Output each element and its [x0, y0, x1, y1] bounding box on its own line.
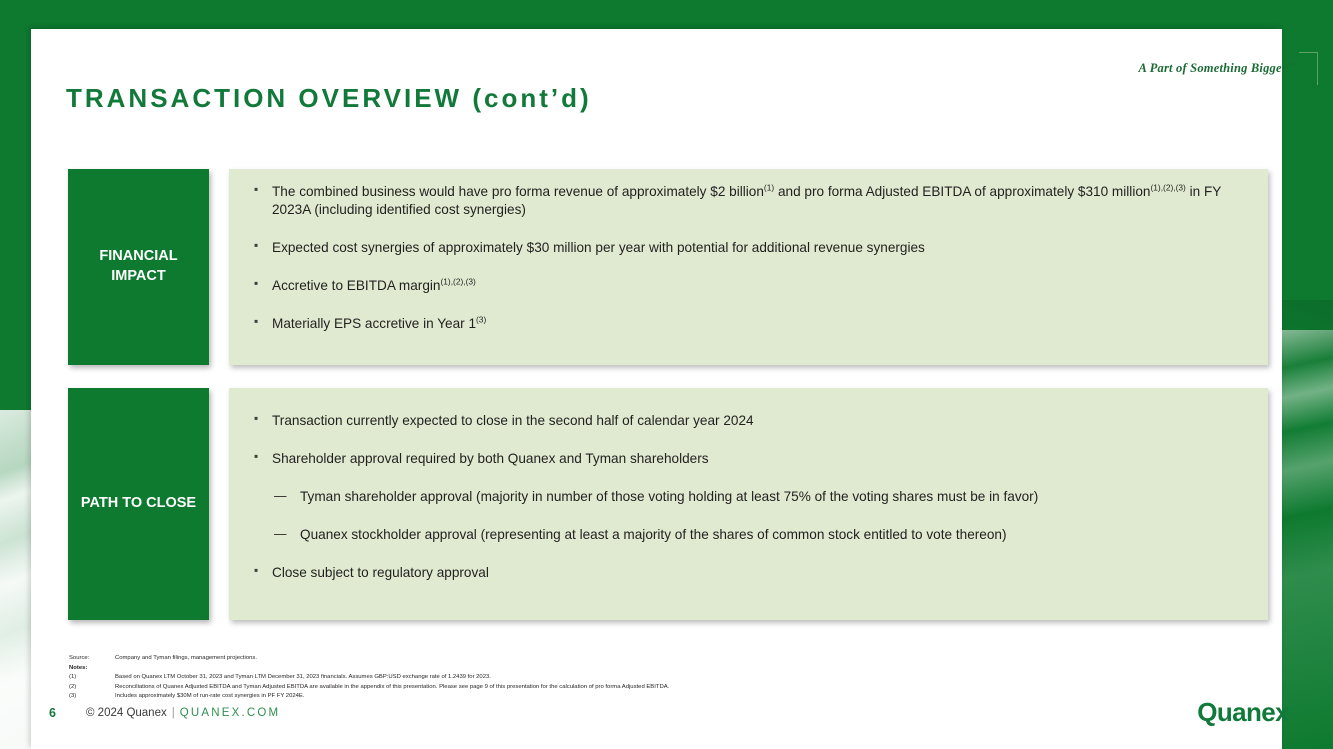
footnote-value: Includes approximately $30M of run-rate … — [115, 692, 304, 702]
footnote-notes-header: Notes: — [69, 664, 669, 674]
website-link[interactable]: QUANEX.COM — [180, 707, 281, 719]
footnote-reference: (3) — [476, 315, 486, 325]
bullet-list-path-to-close: Transaction currently expected to close … — [253, 412, 1244, 582]
footnote-key: (1) — [69, 673, 115, 683]
copyright-notice: © 2024 Quanex|QUANEX.COM — [86, 707, 280, 719]
brand-tagline: A Part of Something Bigger™ — [1139, 52, 1318, 85]
section-label-line2: IMPACT — [99, 267, 177, 287]
bullet-item: Close subject to regulatory approval — [253, 564, 1244, 582]
copyright-text: © 2024 Quanex — [86, 707, 167, 719]
footnote-value: Reconciliations of Quanex Adjusted EBITD… — [115, 683, 669, 693]
section-label-financial-impact: FINANCIAL IMPACT — [68, 169, 209, 365]
footnote-row: (3) Includes approximately $30M of run-r… — [69, 692, 669, 702]
bullet-item: Materially EPS accretive in Year 1(3) — [253, 315, 1244, 333]
footnote-source-value: Company and Tyman filings, management pr… — [115, 654, 257, 664]
tagline-text: A Part of Something Bigger™ — [1139, 52, 1294, 76]
section-content-financial-impact: The combined business would have pro for… — [229, 169, 1268, 365]
bullet-item: Expected cost synergies of approximately… — [253, 239, 1244, 257]
section-label-line1: PATH TO CLOSE — [81, 494, 196, 514]
footnote-key: (2) — [69, 683, 115, 693]
quanex-logo: Quanex — [1197, 697, 1289, 728]
footnote-row: (1) Based on Quanex LTM October 31, 2023… — [69, 673, 669, 683]
trademark-symbol: ™ — [1287, 61, 1294, 69]
bullet-item: Transaction currently expected to close … — [253, 412, 1244, 430]
section-path-to-close: PATH TO CLOSE Transaction currently expe… — [68, 388, 1268, 620]
corner-bracket-decoration — [1299, 52, 1318, 85]
bullet-item: The combined business would have pro for… — [253, 183, 1244, 219]
footnote-row: (2) Reconciliations of Quanex Adjusted E… — [69, 683, 669, 693]
footnote-reference: (1),(2),(3) — [440, 277, 475, 287]
bullet-list-financial-impact: The combined business would have pro for… — [253, 183, 1244, 333]
page-title: TRANSACTION OVERVIEW (cont’d) — [66, 83, 592, 114]
section-financial-impact: FINANCIAL IMPACT The combined business w… — [68, 169, 1268, 365]
footnote-reference: (1) — [764, 182, 774, 192]
bullet-item: Shareholder approval required by both Qu… — [253, 450, 1244, 468]
footnote-value: Based on Quanex LTM October 31, 2023 and… — [115, 673, 491, 683]
sub-bullet-item: Quanex stockholder approval (representin… — [253, 526, 1244, 544]
right-edge-streak-graphic — [1280, 330, 1333, 749]
section-label-path-to-close: PATH TO CLOSE — [68, 388, 209, 620]
footnote-reference: (1),(2),(3) — [1150, 182, 1185, 192]
footnote-source-key: Source: — [69, 654, 115, 664]
section-label-line1: FINANCIAL — [99, 247, 177, 267]
tagline-label: A Part of Something Bigger — [1139, 61, 1287, 75]
copyright-separator: | — [172, 707, 175, 719]
sub-bullet-item: Tyman shareholder approval (majority in … — [253, 488, 1244, 506]
footnotes-block: Source: Company and Tyman filings, manag… — [69, 654, 669, 702]
footnote-notes-key: Notes: — [69, 664, 115, 674]
footnote-key: (3) — [69, 692, 115, 702]
bullet-item: Accretive to EBITDA margin(1),(2),(3) — [253, 277, 1244, 295]
page-number: 6 — [49, 706, 56, 720]
footnote-source-row: Source: Company and Tyman filings, manag… — [69, 654, 669, 664]
section-content-path-to-close: Transaction currently expected to close … — [229, 388, 1268, 620]
